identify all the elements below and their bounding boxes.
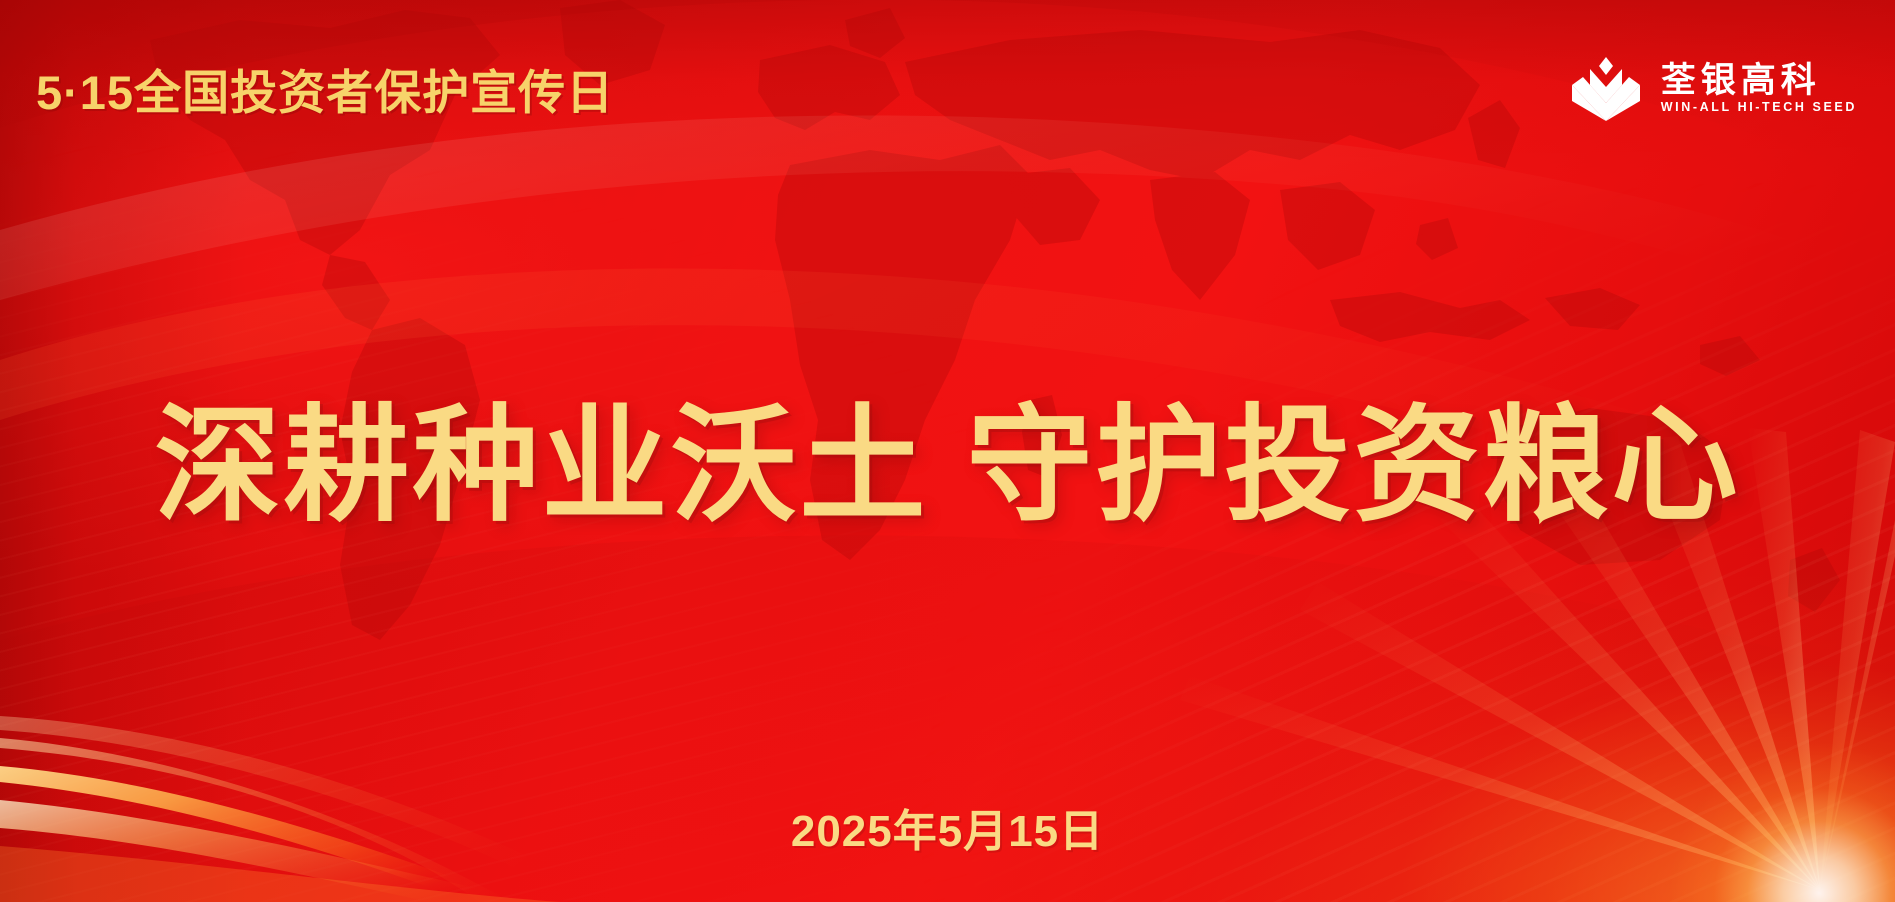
event-date-label: 2025年5月15日 <box>0 795 1895 859</box>
brand-text-block: 荃银高科 WIN-ALL HI-TECH SEED <box>1661 63 1857 114</box>
headline-title: 深耕种业沃土 守护投资粮心 <box>0 395 1895 536</box>
banner-content: 5·15全国投资者保护宣传日 荃银高科 WIN-ALL HI-TECH SEED… <box>0 0 1895 902</box>
brand-lockup: 荃银高科 WIN-ALL HI-TECH SEED <box>1569 52 1857 124</box>
chevron-diamond-logo-icon <box>1569 55 1643 121</box>
brand-name-en: WIN-ALL HI-TECH SEED <box>1661 101 1857 114</box>
event-tag-label: 5·15全国投资者保护宣传日 <box>36 54 614 123</box>
brand-name-cn: 荃银高科 <box>1661 63 1857 98</box>
investor-protection-banner: 5·15全国投资者保护宣传日 荃银高科 WIN-ALL HI-TECH SEED… <box>0 0 1895 902</box>
